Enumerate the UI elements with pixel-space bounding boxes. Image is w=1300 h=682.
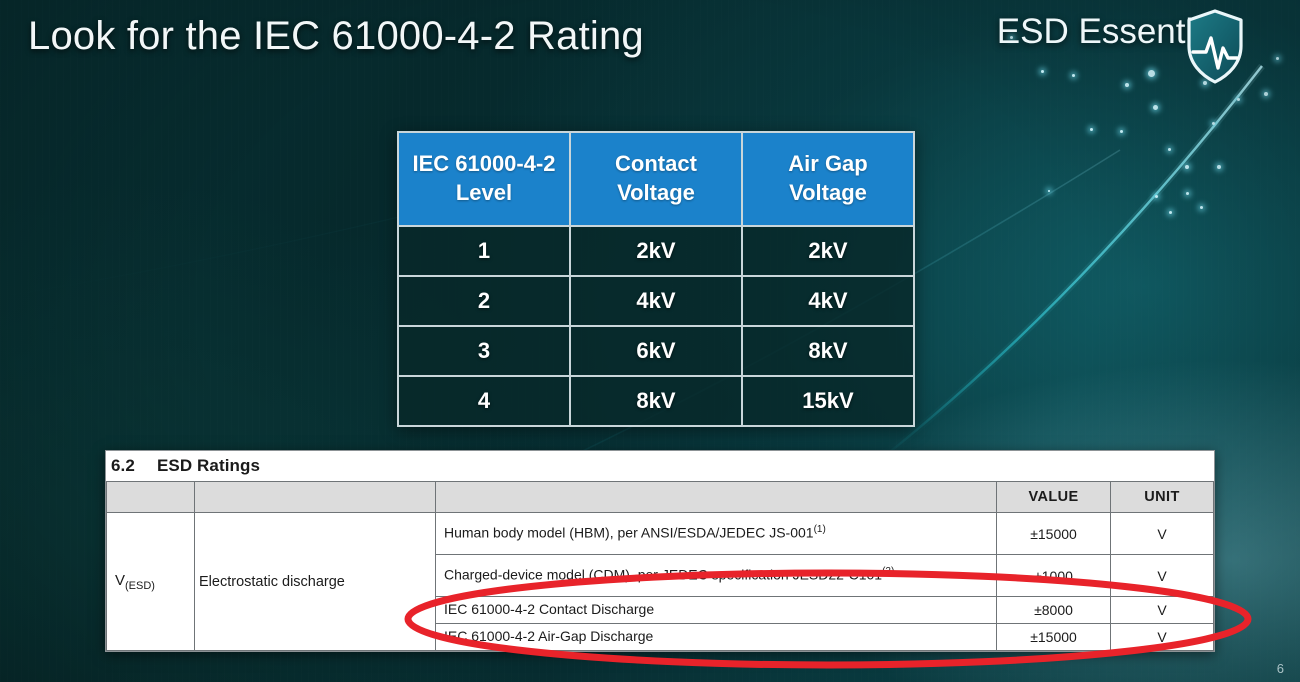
slide-canvas: Look for the IEC 61000-4-2 Rating ESD Es… [0,0,1300,682]
header-description [436,482,997,513]
level-table-header-airgap: Air Gap Voltage [742,132,914,226]
header-symbol [107,482,195,513]
star-particle [1125,83,1129,87]
unit-cell: V [1111,513,1214,555]
value-cell: ±15000 [997,513,1111,555]
star-particle [1186,192,1189,195]
datasheet-section-title: 6.2ESD Ratings [106,451,1214,481]
value-cell: ±8000 [997,597,1111,624]
brand-label: ESD Essentials [997,12,1238,52]
description-cell: IEC 61000-4-2 Contact Discharge [436,597,997,624]
star-particle [1237,98,1240,101]
star-particle [1169,211,1172,214]
description-text: IEC 61000-4-2 Air-Gap Discharge [444,628,653,644]
footnote-marker: (2) [882,566,894,577]
esd-ratings-table: VALUE UNIT V(ESD) Electrostatic discharg… [106,481,1214,651]
section-title-text: ESD Ratings [157,456,260,475]
table-row: 2 4kV 4kV [398,276,914,326]
star-particle [1200,206,1203,209]
datasheet-header-row: VALUE UNIT [107,482,1214,513]
star-particle [1155,195,1158,198]
airgap-voltage-cell: 4kV [742,276,914,326]
description-text: Human body model (HBM), per ANSI/ESDA/JE… [444,525,814,541]
level-table-header-row: IEC 61000-4-2 Level Contact Voltage Air … [398,132,914,226]
unit-cell: V [1111,624,1214,651]
level-cell: 3 [398,326,570,376]
symbol-subscript: (ESD) [125,580,155,592]
table-row: 1 2kV 2kV [398,226,914,276]
contact-voltage-cell: 2kV [570,226,742,276]
star-particle [1153,105,1158,110]
page-number: 6 [1277,661,1284,676]
header-value: VALUE [997,482,1111,513]
airgap-voltage-cell: 15kV [742,376,914,426]
level-cell: 2 [398,276,570,326]
level-table-header-contact: Contact Voltage [570,132,742,226]
description-cell: Human body model (HBM), per ANSI/ESDA/JE… [436,513,997,555]
star-particle [1212,122,1215,125]
star-particle [1276,57,1279,60]
footnote-marker: (1) [814,524,826,535]
iec-level-table: IEC 61000-4-2 Level Contact Voltage Air … [397,131,915,427]
description-cell: Charged-device model (CDM), per JEDEC sp… [436,555,997,597]
value-cell: ±15000 [997,624,1111,651]
airgap-voltage-cell: 2kV [742,226,914,276]
shield-heartbeat-icon [1184,8,1246,86]
star-particle [1120,130,1123,133]
star-particle [1048,190,1050,192]
table-row: 4 8kV 15kV [398,376,914,426]
contact-voltage-cell: 8kV [570,376,742,426]
contact-voltage-cell: 4kV [570,276,742,326]
section-number: 6.2 [111,456,135,475]
star-particle [1217,165,1221,169]
level-cell: 1 [398,226,570,276]
description-cell: IEC 61000-4-2 Air-Gap Discharge [436,624,997,651]
table-row: 3 6kV 8kV [398,326,914,376]
symbol-main: V [115,572,125,589]
star-particle [1090,128,1093,131]
airgap-voltage-cell: 8kV [742,326,914,376]
contact-voltage-cell: 6kV [570,326,742,376]
description-text: IEC 61000-4-2 Contact Discharge [444,601,654,617]
level-table-header-level: IEC 61000-4-2 Level [398,132,570,226]
star-particle [1072,74,1075,77]
page-title: Look for the IEC 61000-4-2 Rating [28,14,644,59]
unit-cell: V [1111,555,1214,597]
star-particle [1168,148,1171,151]
star-particle [1185,165,1189,169]
header-parameter [195,482,436,513]
description-text: Charged-device model (CDM), per JEDEC sp… [444,567,882,583]
star-particle [1041,70,1044,73]
datasheet-clipping: 6.2ESD Ratings VALUE UNIT V(ESD) Electro… [105,450,1215,652]
parameter-cell: Electrostatic discharge [195,513,436,651]
unit-cell: V [1111,597,1214,624]
star-particle [1148,70,1155,77]
value-cell: ±1000 [997,555,1111,597]
star-particle [1264,92,1268,96]
level-cell: 4 [398,376,570,426]
header-unit: UNIT [1111,482,1214,513]
table-row: V(ESD) Electrostatic discharge Human bod… [107,513,1214,555]
symbol-cell: V(ESD) [107,513,195,651]
